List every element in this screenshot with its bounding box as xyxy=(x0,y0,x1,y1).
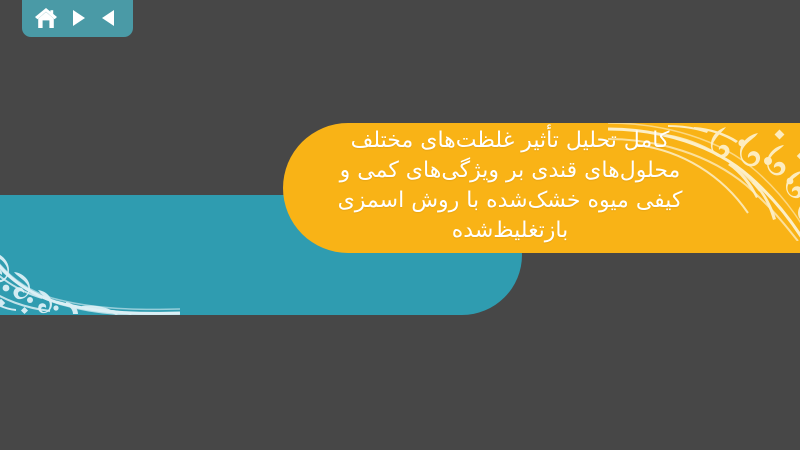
slide-navigation-bar xyxy=(22,0,133,37)
triangle-right-icon xyxy=(67,7,89,29)
presentation-slide: کامل تحلیل تأثیر غلظت‌های مختلف محلول‌ها… xyxy=(0,0,800,450)
home-button[interactable] xyxy=(33,5,59,31)
arabesque-ornament-bottom-left-icon xyxy=(0,195,180,315)
home-icon xyxy=(34,7,58,30)
triangle-left-icon xyxy=(98,7,120,29)
title-banner-orange xyxy=(283,123,800,253)
arabesque-ornament-top-right-icon xyxy=(608,123,800,241)
previous-slide-button[interactable] xyxy=(96,5,122,31)
next-slide-button[interactable] xyxy=(65,5,91,31)
